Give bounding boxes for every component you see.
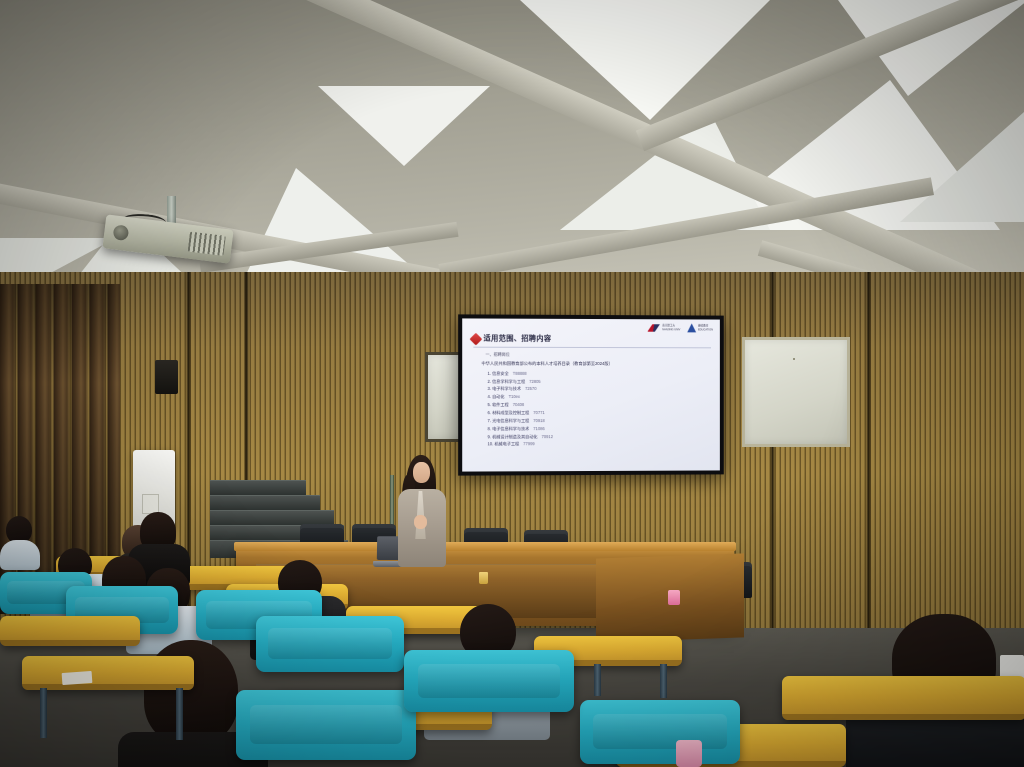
institute-logo-mark-icon bbox=[687, 323, 696, 332]
slide-lead-text: 中华人民共和国教育部公布的本科人才培养目录（教育部第至2024版） bbox=[481, 360, 711, 366]
paper-sheet bbox=[62, 671, 93, 685]
skylight-panel bbox=[900, 112, 1024, 222]
pink-cup-front bbox=[676, 740, 702, 767]
student-seat bbox=[236, 690, 416, 760]
slide-divider bbox=[473, 347, 711, 348]
presenter-hand bbox=[414, 515, 427, 529]
podium-tabletop bbox=[234, 542, 736, 551]
slide-logos: 南京理工大 NANJING UNIV 继续教育 EDUCATION bbox=[647, 323, 713, 332]
coffered-skylight-ceiling bbox=[0, 0, 1024, 300]
projector-lens bbox=[113, 224, 130, 241]
university-logo-text: 南京理工大 NANJING UNIV bbox=[662, 325, 680, 332]
student-desk bbox=[0, 616, 140, 646]
skylight-panel bbox=[318, 86, 490, 166]
student-seat bbox=[404, 650, 574, 712]
student-seat bbox=[256, 616, 404, 672]
desk-leg bbox=[40, 688, 47, 738]
presentation-slide: 南京理工大 NANJING UNIV 继续教育 EDUCATION bbox=[462, 318, 720, 471]
list-item: 1. 信息安全T88888 bbox=[488, 370, 711, 378]
presenter bbox=[392, 455, 454, 575]
pink-cup bbox=[668, 590, 680, 605]
student-desk bbox=[782, 676, 1024, 720]
list-item: 10. 机械电子工程77999 bbox=[488, 440, 711, 448]
slide-title: 适用范围、招聘内容 bbox=[483, 334, 551, 344]
student-desk bbox=[22, 656, 194, 690]
slide-title-row: 适用范围、招聘内容 bbox=[471, 334, 711, 345]
presenter-face bbox=[413, 462, 430, 483]
slide-subtitle: 一、招聘岗位 bbox=[485, 351, 711, 358]
list-item: 5. 软件工程70408 bbox=[488, 401, 711, 409]
wall-speaker bbox=[155, 360, 178, 394]
list-item: 4. 自动化T10ex bbox=[488, 393, 711, 401]
list-item: 2. 信息学科学与工程72805 bbox=[488, 377, 711, 385]
desk-leg bbox=[176, 688, 183, 740]
desk-leg bbox=[660, 664, 667, 698]
slide-list: 1. 信息安全T88888 2. 信息学科学与工程72805 3. 电子科学与技… bbox=[488, 370, 711, 449]
lecture-hall-photo: 南京理工大 NANJING UNIV 继续教育 EDUCATION bbox=[0, 0, 1024, 767]
institute-logo-text: 继续教育 EDUCATION bbox=[698, 325, 713, 331]
yellow-cup bbox=[479, 572, 488, 584]
student-seat bbox=[580, 700, 740, 764]
desk-leg bbox=[594, 664, 601, 696]
university-logo-mark-icon bbox=[647, 324, 660, 332]
projection-screen: 南京理工大 NANJING UNIV 继续教育 EDUCATION bbox=[458, 314, 724, 475]
university-logo: 南京理工大 NANJING UNIV bbox=[647, 324, 680, 332]
whiteboard-right bbox=[742, 337, 850, 447]
projector-vent bbox=[188, 232, 226, 256]
red-diamond-icon bbox=[469, 332, 482, 345]
list-item: 3. 电子科学与技术72570 bbox=[488, 385, 711, 393]
institute-logo: 继续教育 EDUCATION bbox=[687, 323, 713, 332]
